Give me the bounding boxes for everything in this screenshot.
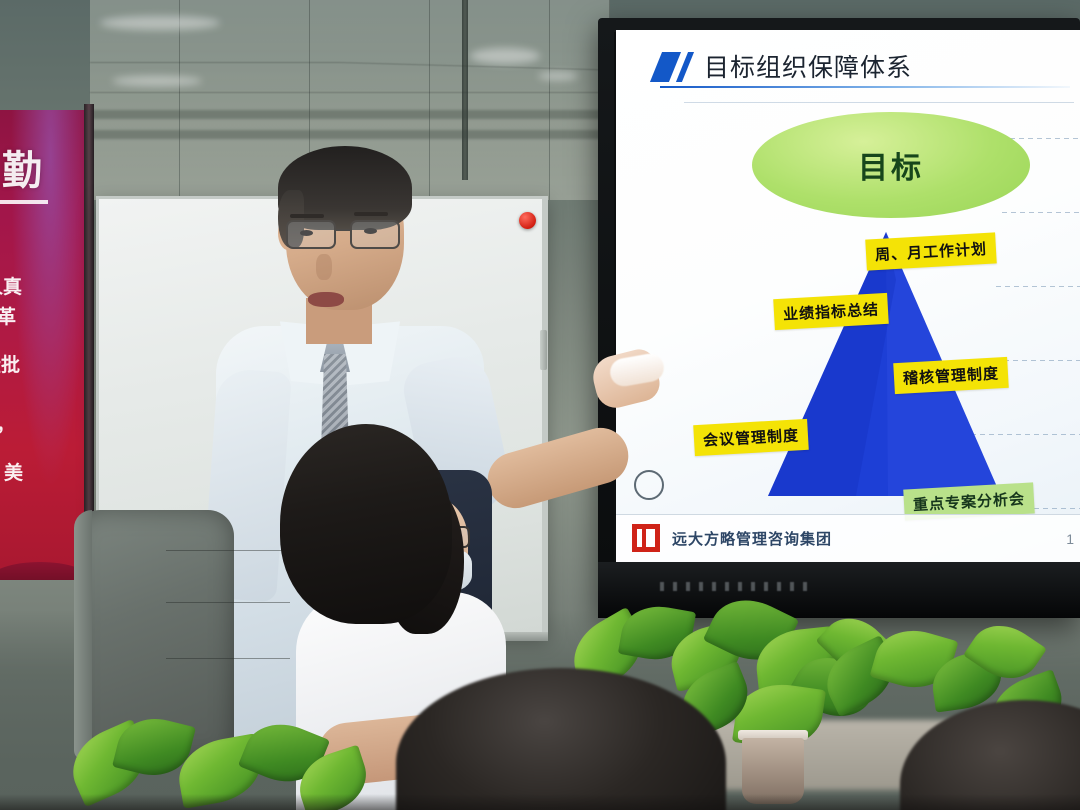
decorative-guide-line <box>1004 360 1080 361</box>
title-underline <box>660 86 1070 88</box>
goal-ellipse: 目标 <box>752 112 1030 218</box>
decorative-guide-line <box>1002 212 1080 213</box>
banner-line: 美 <box>4 458 23 485</box>
pyramid-label: 稽核管理制度 <box>893 357 1009 394</box>
slide-logo-icon <box>656 52 696 82</box>
company-name: 远大方略管理咨询集团 <box>672 528 832 549</box>
presentation-scene: 勤 人真 艺革 些批 ， 美 目标组织保障体系 目标 <box>0 0 1080 810</box>
decorative-guide-line <box>996 286 1080 287</box>
presenter-brow <box>354 212 388 216</box>
display-controls-icon <box>660 582 810 591</box>
foreground-shadow <box>0 794 1080 810</box>
banner-base <box>0 562 84 580</box>
banner-line: ， <box>0 410 15 437</box>
slide-title: 目标组织保障体系 <box>704 48 912 84</box>
banner-big-character: 勤 <box>2 138 48 196</box>
ceiling-line <box>90 62 340 63</box>
roll-up-banner: 勤 人真 艺革 些批 ， 美 <box>0 110 84 580</box>
banner-line: 些批 <box>0 350 20 377</box>
presentation-slide[interactable]: 目标组织保障体系 目标 周、月工作计划 业绩指标总结 稽核管理制度 会议管理制度… <box>616 30 1080 562</box>
presenter-glasses <box>286 220 408 250</box>
title-underline-secondary <box>684 102 1074 103</box>
goal-label: 目标 <box>858 143 924 187</box>
slide-page-number: 1 <box>1066 531 1074 547</box>
ceiling-line <box>90 92 610 93</box>
banner-line: 艺革 <box>0 302 16 329</box>
presenter-brow <box>290 214 324 218</box>
banner-line: 人真 <box>0 272 22 299</box>
pyramid-label: 会议管理制度 <box>693 419 809 456</box>
presenter-nose <box>316 254 332 280</box>
presenter-mouth <box>308 292 344 307</box>
banner-divider <box>0 200 48 204</box>
decorative-guide-line <box>962 434 1080 435</box>
pyramid-label: 业绩指标总结 <box>773 293 889 330</box>
frosted-band <box>90 110 610 119</box>
slide-footer: 远大方略管理咨询集团 1 <box>616 514 1080 562</box>
attendee-hair <box>280 424 452 624</box>
pyramid-label: 周、月工作计划 <box>865 232 997 270</box>
